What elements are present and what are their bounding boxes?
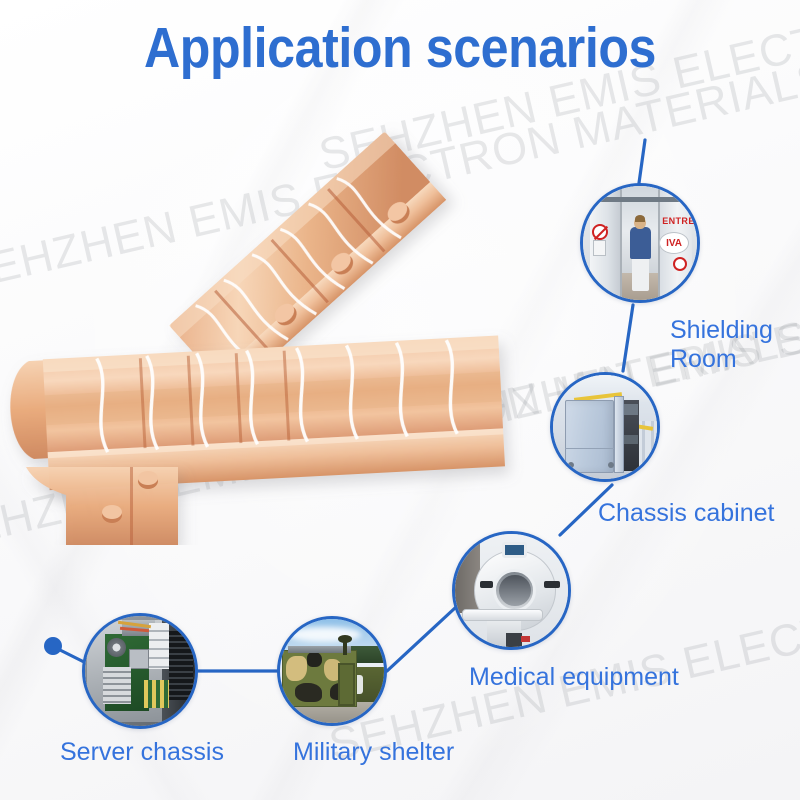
scenario-node-shielding-room[interactable]: ENTRE IVA Shielding Room bbox=[580, 183, 700, 303]
antenna-icon bbox=[343, 641, 347, 656]
warning-icon bbox=[673, 257, 687, 271]
scenario-photo-medical-equipment[interactable] bbox=[452, 531, 571, 650]
scenario-label-medical-equipment: Medical equipment bbox=[469, 663, 729, 692]
scenario-node-medical-equipment[interactable]: Medical equipment bbox=[452, 531, 571, 650]
entre-sign-text: ENTRE bbox=[662, 216, 695, 226]
no-entry-icon bbox=[592, 224, 608, 240]
scenario-label-shielding-room: Shielding Room bbox=[670, 316, 773, 374]
product-photo-copper-finger-strips bbox=[0, 115, 570, 545]
cooling-fan-icon bbox=[107, 638, 126, 657]
scenario-label-server-chassis: Server chassis bbox=[60, 738, 280, 767]
scenario-node-server-chassis[interactable]: Server chassis bbox=[82, 613, 198, 729]
scenario-label-chassis-cabinet: Chassis cabinet bbox=[598, 499, 800, 528]
scanner-display-icon bbox=[502, 542, 527, 558]
page-title: Application scenarios bbox=[48, 16, 752, 80]
scenario-photo-chassis-cabinet[interactable] bbox=[550, 372, 660, 482]
scenario-photo-server-chassis[interactable] bbox=[82, 613, 198, 729]
scenario-label-military-shelter: Military shelter bbox=[293, 738, 513, 767]
iva-sign-text: IVA bbox=[659, 232, 689, 254]
scenario-photo-military-shelter[interactable] bbox=[277, 616, 387, 726]
scenario-node-chassis-cabinet[interactable]: Chassis cabinet bbox=[550, 372, 660, 482]
scenario-photo-shielding-room[interactable]: ENTRE IVA bbox=[580, 183, 700, 303]
scenario-node-military-shelter[interactable]: Military shelter bbox=[277, 616, 387, 726]
